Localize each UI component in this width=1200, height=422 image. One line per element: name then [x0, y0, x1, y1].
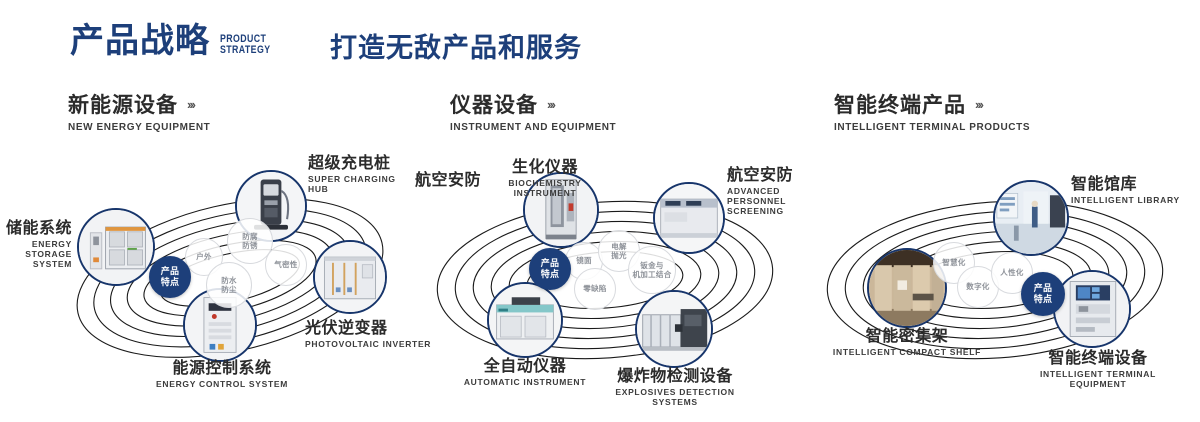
personnel-screening-machine-icon: [655, 184, 723, 252]
energy-storage-cabinet-icon: [79, 210, 153, 284]
node-label-explosives-detection-systems: 爆炸物检测设备 EXPLOSIVES DETECTION SYSTEMS: [595, 368, 755, 408]
feature-bubble: 防水防尘: [206, 262, 252, 308]
node-label-cn: 爆炸物检测设备: [595, 368, 755, 386]
cluster-instrument-and-equipment: 生化仪器 BIOCHEMISTRY INSTRUMENT 航空安防 航空安防 A…: [425, 160, 785, 390]
main-feature-label: 产品特点: [161, 266, 180, 289]
section-title-en: INSTRUMENT AND EQUIPMENT: [450, 122, 616, 133]
node-label-en: AUTOMATIC INSTRUMENT: [445, 378, 605, 388]
node-label-biochemistry-instrument: 生化仪器 BIOCHEMISTRY INSTRUMENT: [485, 159, 605, 199]
page-title-english: PRODUCT STRATEGY: [220, 34, 270, 56]
node-label-cn: 智能终端设备: [1013, 350, 1183, 368]
node-photovoltaic-inverter[interactable]: [313, 240, 387, 314]
node-label-cn: 储能系统: [0, 220, 72, 238]
poster-header: 产品战略 PRODUCT STRATEGY: [70, 24, 283, 58]
chevron-right-icon: ›››: [547, 98, 554, 112]
node-label-energy-control-system: 能源控制系统 ENERGY CONTROL SYSTEM: [147, 360, 297, 390]
feature-bubble: 钣金与机加工结合: [628, 246, 676, 294]
section-title-cn: 仪器设备: [450, 94, 538, 117]
node-label-energy-storage-system: 储能系统 ENERGY STORAGE SYSTEM: [0, 220, 72, 270]
node-label-en: EXPLOSIVES DETECTION SYSTEMS: [595, 388, 755, 408]
node-label-en: INTELLIGENT TERMINAL EQUIPMENT: [1013, 370, 1183, 390]
node-label-cn: 能源控制系统: [147, 360, 297, 378]
node-advanced-personnel-screening[interactable]: [653, 182, 725, 254]
section-title-en: NEW ENERGY EQUIPMENT: [68, 122, 210, 133]
main-feature-bubble: 产品特点: [149, 256, 191, 298]
node-automatic-instrument[interactable]: [487, 282, 563, 358]
smart-library-room-icon: [995, 182, 1067, 254]
node-intelligent-library[interactable]: [993, 180, 1069, 256]
section-title-en: INTELLIGENT TERMINAL PRODUCTS: [834, 122, 1030, 133]
pv-inverter-cabinet-icon: [315, 242, 385, 312]
node-energy-storage-system[interactable]: [77, 208, 155, 286]
automatic-analyzer-icon: [489, 284, 561, 356]
page-subtitle: 打造无敌产品和服务: [330, 35, 582, 62]
node-label-cn: 超级充电桩: [308, 155, 418, 173]
node-label-intelligent-library: 智能馆库 INTELLIGENT LIBRARY: [1071, 176, 1200, 206]
node-label-cn: 智能密集架: [823, 328, 991, 346]
node-label-photovoltaic-inverter: 光伏逆变器 PHOTOVOLTAIC INVERTER: [305, 320, 435, 350]
node-label-cn: 航空安防: [395, 172, 481, 190]
feature-bubble: 零缺陷: [574, 268, 616, 310]
node-explosives-detection-systems[interactable]: [635, 290, 713, 368]
node-label-intelligent-compact-shelf: 智能密集架 INTELLIGENT COMPACT SHELF: [823, 328, 991, 358]
cluster-intelligent-terminal-products: 智能馆库 INTELLIGENT LIBRARY 智能密集架 INTELLIGE…: [815, 160, 1175, 390]
node-label-intelligent-terminal-equipment: 智能终端设备 INTELLIGENT TERMINAL EQUIPMENT: [1013, 350, 1183, 390]
node-label-cn: 全自动仪器: [445, 358, 605, 376]
node-label-cn: 智能馆库: [1071, 176, 1200, 194]
main-feature-bubble: 产品特点: [1021, 272, 1065, 316]
node-intelligent-terminal-equipment[interactable]: [1053, 270, 1131, 348]
section-title-intelligent: 智能终端产品››› INTELLIGENT TERMINAL PRODUCTS: [834, 94, 1030, 133]
poster-canvas: 产品战略 PRODUCT STRATEGY 打造无敌产品和服务 新能源设备›››…: [0, 0, 1200, 422]
page-title: 产品战略: [70, 24, 210, 58]
node-label-en: ENERGY CONTROL SYSTEM: [147, 380, 297, 390]
node-label-automatic-instrument: 全自动仪器 AUTOMATIC INSTRUMENT: [445, 358, 605, 388]
section-title-new-energy: 新能源设备››› NEW ENERGY EQUIPMENT: [68, 94, 210, 133]
node-label-en: INTELLIGENT COMPACT SHELF: [823, 348, 991, 358]
main-feature-label: 产品特点: [541, 258, 560, 281]
section-title-cn: 智能终端产品: [834, 94, 966, 117]
chevron-right-icon: ›››: [187, 98, 194, 112]
main-feature-bubble: 产品特点: [529, 248, 571, 290]
node-label-cn: 光伏逆变器: [305, 320, 435, 338]
node-label-en: BIOCHEMISTRY INSTRUMENT: [485, 179, 605, 199]
node-label-aviation-security-left: 航空安防: [395, 172, 481, 190]
cluster-new-energy-equipment: 储能系统 ENERGY STORAGE SYSTEM 超级充电桩 SUPER C…: [55, 160, 405, 390]
explosives-detector-icon: [637, 292, 711, 366]
node-label-en: INTELLIGENT LIBRARY: [1071, 196, 1200, 206]
section-title-cn: 新能源设备: [68, 94, 178, 117]
node-label-en: ENERGY STORAGE SYSTEM: [0, 240, 72, 269]
feature-bubble: 气密性: [265, 244, 307, 286]
node-label-cn: 生化仪器: [485, 159, 605, 177]
node-label-en: PHOTOVOLTAIC INVERTER: [305, 340, 435, 350]
chevron-right-icon: ›››: [975, 98, 982, 112]
self-service-kiosk-icon: [1055, 272, 1129, 346]
section-title-instrument: 仪器设备››› INSTRUMENT AND EQUIPMENT: [450, 94, 616, 133]
main-feature-label: 产品特点: [1034, 283, 1053, 306]
